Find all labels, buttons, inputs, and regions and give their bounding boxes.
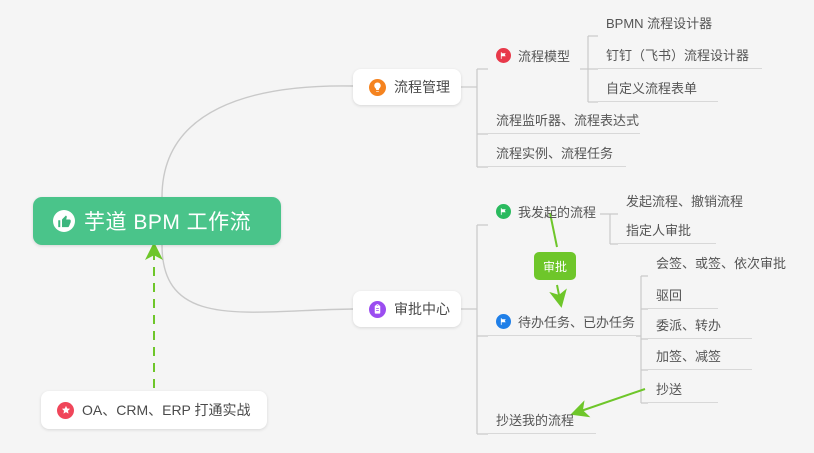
node-add-remove-sign[interactable]: 加签、减签: [648, 342, 752, 370]
node-label: BPMN 流程设计器: [606, 13, 712, 32]
node-label: 流程模型: [518, 46, 570, 65]
annotation-approval-tag[interactable]: 审批: [534, 252, 576, 280]
arrow-my-process-to-todo-lower: [557, 285, 560, 300]
node-label: 抄送我的流程: [496, 410, 574, 429]
node-label: 会签、或签、依次审批: [656, 253, 786, 272]
node-process-instance-task[interactable]: 流程实例、流程任务: [488, 139, 626, 167]
branch-approval-center[interactable]: 审批中心: [353, 291, 461, 327]
node-reject[interactable]: 驱回: [648, 281, 718, 309]
node-process-model[interactable]: 流程模型: [488, 41, 580, 69]
node-label: 我发起的流程: [518, 202, 596, 221]
lightbulb-icon: [369, 79, 386, 96]
star-icon: [57, 402, 74, 419]
thumbs-up-icon: [53, 210, 75, 232]
annotation-integration-note[interactable]: OA、CRM、ERP 打通实战: [41, 391, 267, 429]
branch-label: 审批中心: [394, 299, 450, 319]
node-label: 钉钉（飞书）流程设计器: [606, 45, 749, 64]
node-delegate-transfer[interactable]: 委派、转办: [648, 311, 752, 339]
clipboard-icon: [369, 301, 386, 318]
node-assignee-approval[interactable]: 指定人审批: [618, 216, 716, 244]
node-my-initiated-process[interactable]: 我发起的流程: [488, 197, 600, 225]
node-label: 自定义流程表单: [606, 78, 697, 97]
flag-icon: [496, 314, 511, 329]
branch-process-management[interactable]: 流程管理: [353, 69, 461, 105]
node-label: 加签、减签: [656, 346, 721, 365]
root-label: 芋道 BPM 工作流: [84, 206, 251, 236]
node-custom-process-form[interactable]: 自定义流程表单: [598, 74, 718, 102]
annotation-label: 审批: [543, 258, 567, 275]
node-todo-done-tasks[interactable]: 待办任务、已办任务: [488, 308, 636, 336]
node-label: 委派、转办: [656, 315, 721, 334]
link-root-to-approval-center: [162, 245, 353, 312]
node-label: 流程实例、流程任务: [496, 143, 613, 162]
branch-label: 流程管理: [394, 77, 450, 97]
link-root-to-process-management: [162, 86, 353, 197]
node-countersign-or-sequential[interactable]: 会签、或签、依次审批: [648, 248, 792, 276]
node-label: 指定人审批: [626, 220, 691, 239]
node-cc[interactable]: 抄送: [648, 375, 718, 403]
flag-icon: [496, 48, 511, 63]
annotation-label: OA、CRM、ERP 打通实战: [82, 400, 251, 420]
node-label: 待办任务、已办任务: [518, 312, 635, 331]
node-start-cancel-process[interactable]: 发起流程、撤销流程: [618, 186, 754, 214]
flag-icon: [496, 204, 511, 219]
node-label: 发起流程、撤销流程: [626, 191, 743, 210]
mindmap-canvas: 芋道 BPM 工作流 流程管理 流程模型 BPMN 流程设计器 钉钉（飞书）流程…: [0, 0, 814, 453]
node-label: 流程监听器、流程表达式: [496, 110, 639, 129]
root-node[interactable]: 芋道 BPM 工作流: [33, 197, 281, 245]
node-process-listener-expression[interactable]: 流程监听器、流程表达式: [488, 106, 640, 134]
node-label: 驱回: [656, 285, 682, 304]
node-dingtalk-feishu-designer[interactable]: 钉钉（飞书）流程设计器: [598, 41, 762, 69]
node-label: 抄送: [656, 379, 682, 398]
node-bpmn-designer[interactable]: BPMN 流程设计器: [598, 8, 734, 36]
node-cc-to-me-process[interactable]: 抄送我的流程: [488, 406, 596, 434]
